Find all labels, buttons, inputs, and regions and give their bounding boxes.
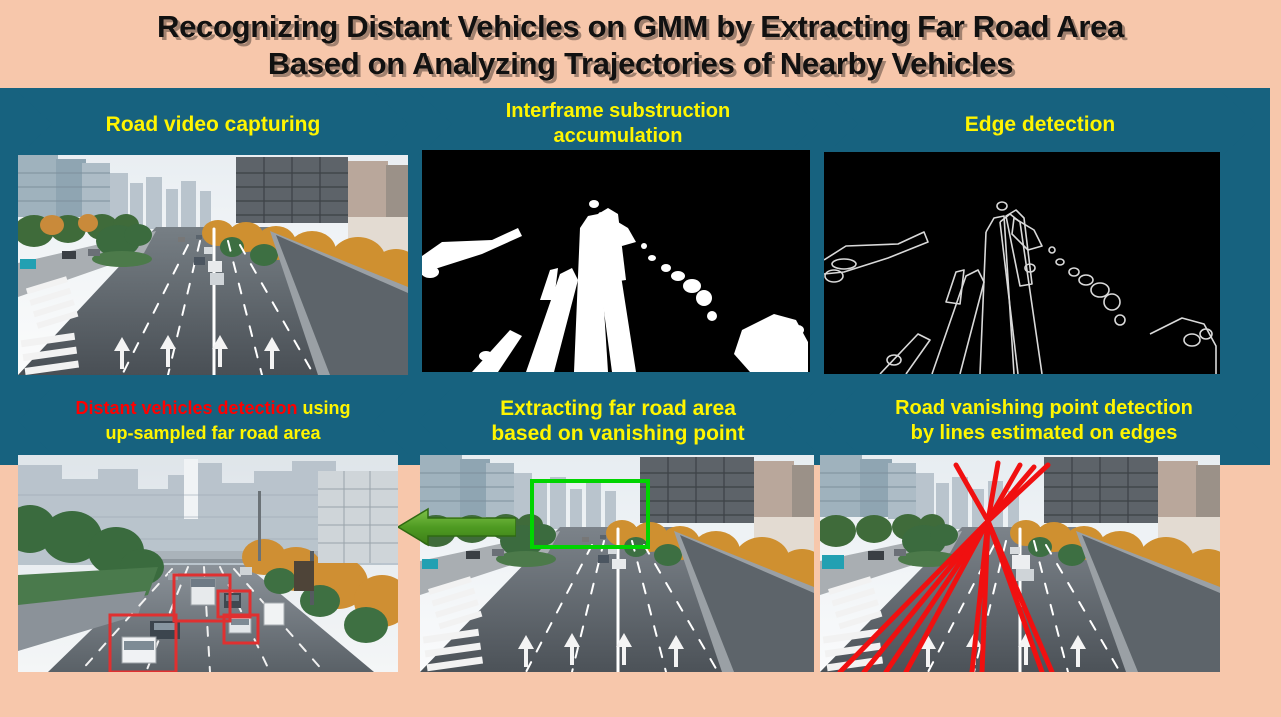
step-banner-road-video-capturing[interactable]: Road video capturing (18, 92, 408, 156)
step-banner-edge-detection[interactable]: Edge detection (824, 92, 1256, 156)
far-road-area-transfer-arrow-icon (398, 505, 516, 549)
step-banner-interframe-substruction[interactable]: Interframe substruction accumulation (418, 92, 818, 156)
page-title: Recognizing Distant Vehicles on GMM by E… (0, 2, 1281, 88)
image-interframe-subtraction-binary-mask (422, 150, 810, 372)
step-banner-distant-vehicles-detection[interactable]: Distant vehicles detection using up-samp… (18, 388, 408, 454)
image-far-road-area-green-box (420, 455, 814, 672)
step-banner-label-red: Distant vehicles detection (75, 398, 297, 418)
image-vanishing-point-lines-overlay (820, 455, 1220, 672)
image-edge-detection-contours (824, 152, 1220, 374)
image-distant-vehicle-detection-boxes (18, 455, 398, 672)
step-banner-label-line-2: based on vanishing point (384, 421, 852, 446)
step-banner-label-line-2: accumulation (384, 124, 852, 149)
step-banner-road-vanishing-point-detection[interactable]: Road vanishing point detection by lines … (824, 388, 1264, 454)
step-banner-label-line-1: Road vanishing point detection (790, 396, 1281, 421)
step-banner-label-line-1: Extracting far road area (384, 396, 852, 421)
step-banner-label-yellow-tail: using (298, 398, 351, 418)
step-banner-label: Edge detection (824, 112, 1256, 137)
step-banner-label-line-1: Distant vehicles detection using (0, 396, 442, 421)
step-banner-extracting-far-road-area[interactable]: Extracting far road area based on vanish… (418, 388, 818, 454)
step-banner-label-line-1: Interframe substruction (384, 99, 852, 124)
step-banner-label-line-2: by lines estimated on edges (790, 421, 1281, 446)
step-banner-label-line-2: up-sampled far road area (0, 421, 442, 446)
page-title-line-1: Recognizing Distant Vehicles on GMM by E… (0, 8, 1281, 45)
image-road-video-frame (18, 155, 408, 375)
step-banner-label: Road video capturing (18, 112, 408, 137)
page-title-line-2: Based on Analyzing Trajectories of Nearb… (0, 45, 1281, 82)
